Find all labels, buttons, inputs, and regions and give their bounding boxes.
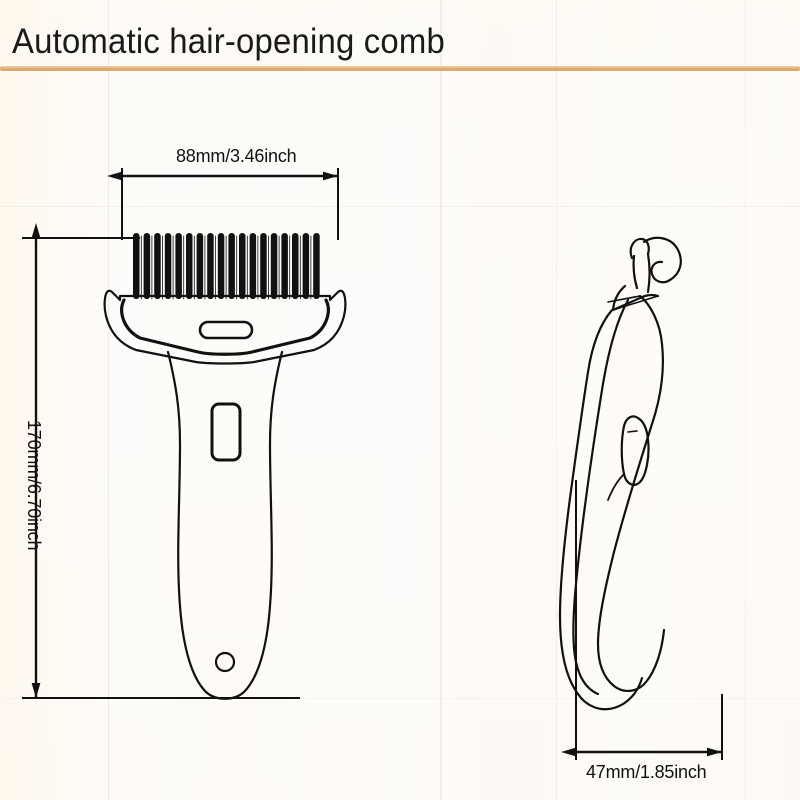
hook-blade-neck-right <box>648 254 650 292</box>
head-outline-inner <box>122 300 329 354</box>
head-outline-outer <box>105 291 346 364</box>
button-lower-edge <box>608 474 624 500</box>
height-dimension <box>22 238 300 698</box>
side-view <box>560 238 681 709</box>
product-dimension-diagram: Automatic hair-opening comb <box>0 0 800 800</box>
slot-vent <box>200 322 252 338</box>
hang-hole <box>216 653 234 671</box>
depth-dimension <box>576 480 722 760</box>
width-dimension <box>122 168 338 240</box>
thumb-button-tick <box>628 431 637 432</box>
thumb-button <box>212 404 240 460</box>
technical-drawing <box>0 0 800 800</box>
height-dimension-label: 170mm/6.70inch <box>24 420 44 550</box>
front-view <box>105 233 346 699</box>
side-inner-contour <box>573 300 628 694</box>
hook-blade-neck <box>634 256 637 288</box>
depth-dimension-label: 47mm/1.85inch <box>586 762 706 782</box>
width-dimension-label: 88mm/3.46inch <box>176 146 296 166</box>
